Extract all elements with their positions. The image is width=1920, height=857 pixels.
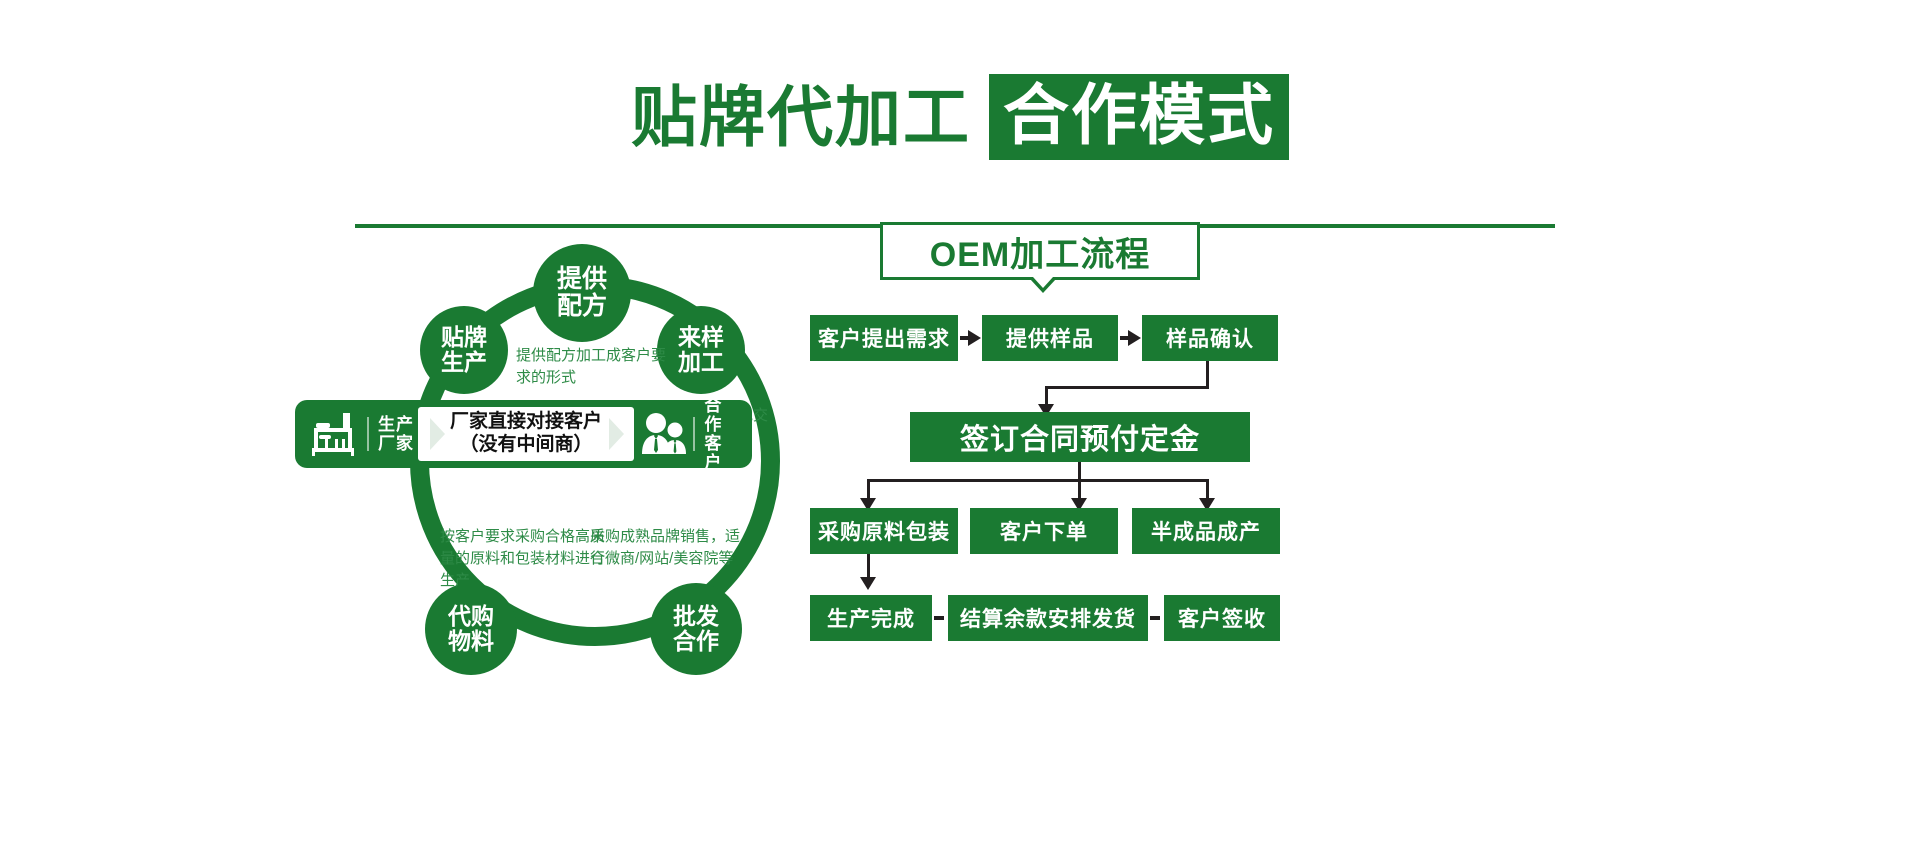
node-label-line2: 物料: [448, 629, 494, 654]
customer-label: 合作 客户: [704, 396, 740, 472]
caption-supply-formula: 提供配方加工成客户要求的形式: [516, 345, 666, 389]
arrow-line: [1206, 479, 1209, 500]
manufacturer-label: 生产 厂家: [378, 415, 414, 453]
caption-material-purchase: 按客户要求采购合格高质量的原料和包装材料进行生产: [440, 526, 610, 591]
node-oem-production[interactable]: 贴牌 生产: [420, 306, 508, 394]
flow-box-sample-confirm[interactable]: 样品确认: [1142, 315, 1278, 361]
chevron-right-icon-right: [609, 418, 624, 450]
customer-label-line2: 客户: [704, 434, 740, 472]
direct-supply-line1: 厂家直接对接客户: [450, 411, 602, 434]
title-badge-text: 合作模式: [989, 74, 1289, 160]
caption-wholesale-coop: 采购成熟品牌销售，适合微商/网站/美容院等: [590, 526, 750, 570]
customer-label-line1: 合作: [704, 396, 740, 434]
arrow-line: [867, 479, 1209, 482]
arrow-line: [1045, 386, 1209, 389]
node-label-line2: 合作: [673, 629, 719, 654]
arrow-line: [1206, 361, 1209, 388]
direct-supply-line2: （没有中间商）: [450, 434, 602, 457]
oem-flowchart: OEM加工流程 客户提出需求 提供样品 样品确认 签订合同预付定金 采购原料包装…: [880, 222, 1540, 642]
node-label-line1: 批发: [673, 604, 719, 629]
arrow-line: [1078, 479, 1081, 500]
direct-supply-text: 厂家直接对接客户 （没有中间商）: [450, 411, 602, 457]
node-label-line1: 来样: [678, 325, 724, 350]
arrow-head-down-icon: [860, 577, 876, 590]
heading-notch-inner-icon: [1033, 277, 1053, 288]
node-label-line2: 配方: [557, 293, 607, 320]
flow-box-production-complete[interactable]: 生产完成: [810, 595, 932, 641]
customer-side: 合作 客户: [634, 396, 752, 472]
manufacturer-label-line2: 厂家: [378, 434, 414, 453]
cycle-diagram: 提供 配方 来样 加工 贴牌 生产 代购 物料 批发 合作 提供配方加工成客户要…: [350, 258, 850, 778]
node-label-line2: 生产: [441, 350, 487, 375]
divider-vertical: [367, 417, 369, 451]
flow-box-customer-receipt[interactable]: 客户签收: [1164, 595, 1280, 641]
node-sample-process[interactable]: 来样 加工: [657, 306, 745, 394]
flow-box-customer-order[interactable]: 客户下单: [970, 508, 1118, 554]
arrow-line: [934, 616, 944, 620]
flow-box-sign-contract[interactable]: 签订合同预付定金: [910, 412, 1250, 462]
arrow-line: [867, 479, 870, 500]
arrow-head-right-icon: [968, 330, 981, 346]
manufacturer-label-line1: 生产: [378, 415, 414, 434]
factory-icon: [307, 409, 365, 459]
flow-box-customer-request[interactable]: 客户提出需求: [810, 315, 958, 361]
direct-supply-bar: 生产 厂家 厂家直接对接客户 （没有中间商）: [295, 400, 752, 468]
flow-box-settle-and-ship[interactable]: 结算余款安排发货: [948, 595, 1148, 641]
arrow-line: [1150, 616, 1160, 620]
node-label-line1: 代购: [448, 604, 494, 629]
manufacturer-side: 生产 厂家: [295, 409, 418, 459]
node-wholesale-coop[interactable]: 批发 合作: [650, 583, 742, 675]
node-label-line1: 贴牌: [441, 325, 487, 350]
flow-box-provide-sample[interactable]: 提供样品: [982, 315, 1118, 361]
arrow-head-right-icon: [1128, 330, 1141, 346]
poster-root: 贴牌代加工 合作模式 提供 配方 来样 加工 贴牌 生产 代购 物料 批发 合作…: [0, 0, 1920, 857]
direct-supply-statement: 厂家直接对接客户 （没有中间商）: [418, 407, 634, 461]
flow-box-semi-finished[interactable]: 半成品成产: [1132, 508, 1280, 554]
page-title: 贴牌代加工 合作模式: [0, 74, 1920, 160]
arrow-line: [867, 554, 870, 579]
node-label-line2: 加工: [678, 350, 724, 375]
oem-flow-heading-text: OEM加工流程: [930, 227, 1150, 276]
divider-vertical: [693, 417, 695, 451]
oem-flow-heading: OEM加工流程: [880, 222, 1200, 280]
node-supply-formula[interactable]: 提供 配方: [533, 244, 631, 342]
customers-icon: [634, 409, 691, 459]
chevron-right-icon-left: [430, 418, 445, 450]
title-main-text: 贴牌代加工: [631, 84, 971, 150]
node-material-purchase[interactable]: 代购 物料: [425, 583, 517, 675]
node-label-line1: 提供: [557, 266, 607, 293]
arrow-line: [1045, 386, 1048, 406]
flow-box-purchase-materials[interactable]: 采购原料包装: [810, 508, 958, 554]
